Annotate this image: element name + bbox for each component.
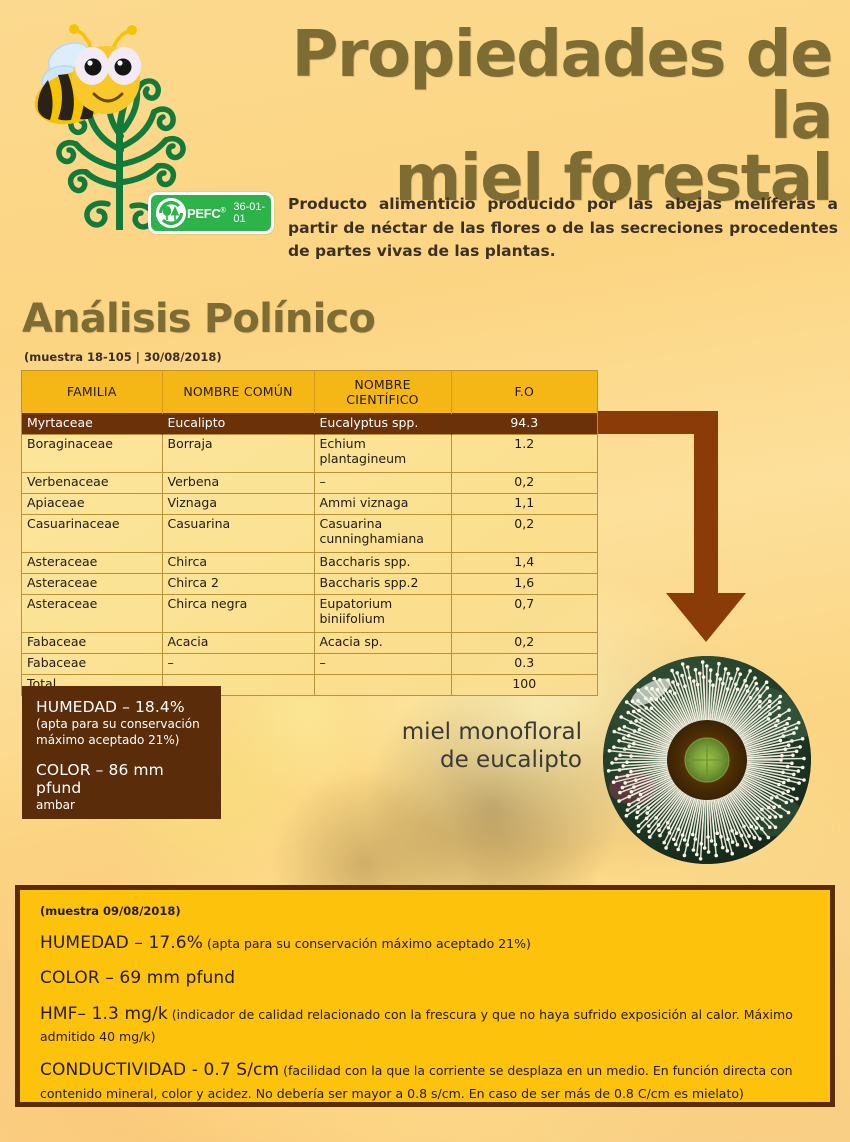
table-cell-nombre-cientifico: – [314,653,451,674]
table-cell-nombre-comun: Viznaga [162,493,314,514]
humedad-note-line2: máximo aceptado 21%) [36,733,207,748]
table-row: BoraginaceaeBorrajaEchium plantagineum1.… [22,434,597,472]
table-cell-nombre-comun: Eucalipto [162,413,314,434]
table-cell-familia: Myrtaceae [22,413,162,434]
caption-line-1: miel monofloral [402,719,582,745]
column-header-familia: FAMILIA [22,371,162,413]
property-note: (apta para su conservación máximo acepta… [203,936,531,951]
column-header-fo: F.O [451,371,597,413]
table-row: AsteraceaeChirca 2Baccharis spp.21,6 [22,573,597,594]
pefc-logo-icon [156,198,186,228]
table-cell-familia: Asteraceae [22,573,162,594]
column-header-line1: NOMBRE [354,377,410,392]
humidity-color-box: HUMEDAD – 18.4% (apta para su conservaci… [22,686,221,819]
table-cell-nombre-cientifico: Acacia sp. [314,632,451,653]
table-cell-nombre-cientifico [314,674,451,695]
table-cell-nombre-cientifico: Eucalyptus spp. [314,413,451,434]
eucalyptus-flower-photo [603,656,811,864]
property-key: HUMEDAD – 17.6% [40,933,203,953]
infographic-poster: PEFC® 36-01-01 Propiedades de la miel fo… [0,0,850,1142]
property-item: COLOR – 69 mm pfund [40,967,810,989]
table-row: ApiaceaeViznagaAmmi viznaga1,1 [22,493,597,514]
table-row: MyrtaceaeEucaliptoEucalyptus spp.94.3 [22,413,597,434]
property-item: CONDUCTIVIDAD - 0.7 S/cm (facilidad con … [40,1059,810,1103]
table-cell-familia: Asteraceae [22,552,162,573]
table-cell-fo: 1,6 [451,573,597,594]
table-cell-nombre-cientifico: – [314,472,451,493]
humedad-note-line1: (apta para su conservación [36,717,207,732]
table-cell-fo: 0.3 [451,653,597,674]
pollen-analysis-table: FAMILIA NOMBRE COMÚN NOMBRE CIENTÍFICO F… [22,371,597,695]
table-cell-nombre-comun: Borraja [162,434,314,472]
table-cell-nombre-comun: Verbena [162,472,314,493]
table-cell-familia: Apiaceae [22,493,162,514]
property-key: COLOR – 69 mm pfund [40,968,235,988]
table-cell-familia: Asteraceae [22,594,162,632]
humedad-label: HUMEDAD – 18.4% [36,698,207,716]
table-cell-familia: Casuarinaceae [22,514,162,552]
table-cell-fo: 94.3 [451,413,597,434]
table-cell-nombre-cientifico: Ammi viznaga [314,493,451,514]
table-cell-fo: 100 [451,674,597,695]
poster-title-block: Propiedades de la miel forestal [286,24,832,210]
table-cell-fo: 0,2 [451,632,597,653]
table-row: VerbenaceaeVerbena–0,2 [22,472,597,493]
table-cell-nombre-cientifico: Eupatorium biniifolium [314,594,451,632]
table-row: Fabaceae––0.3 [22,653,597,674]
table-cell-nombre-cientifico: Baccharis spp. [314,552,451,573]
table-cell-nombre-comun: Casuarina [162,514,314,552]
pefc-label: PEFC® [187,206,225,221]
table-cell-familia: Fabaceae [22,653,162,674]
column-header-nombre-comun: NOMBRE COMÚN [162,371,314,413]
table-row: AsteraceaeChirca negraEupatorium biniifo… [22,594,597,632]
table-cell-fo: 1.2 [451,434,597,472]
table-cell-nombre-comun: Chirca [162,552,314,573]
photo-caption: miel monofloral de eucalipto [330,718,582,774]
color-note: ambar [36,798,207,813]
honey-properties-box: (muestra 09/08/2018) HUMEDAD – 17.6% (ap… [15,885,835,1107]
table-body: MyrtaceaeEucaliptoEucalyptus spp.94.3Bor… [22,413,597,695]
caption-line-2: de eucalipto [440,747,582,773]
bottom-sample-note: (muestra 09/08/2018) [40,904,810,918]
table-cell-fo: 0,2 [451,472,597,493]
table-cell-nombre-cientifico: Casuarina cunninghamiana [314,514,451,552]
table-cell-fo: 0,2 [451,514,597,552]
color-label: COLOR – 86 mm pfund [36,761,207,797]
table-cell-fo: 0,7 [451,594,597,632]
section-title-analisis-polinico: Análisis Polínico [22,296,375,342]
column-header-nombre-cientifico: NOMBRE CIENTÍFICO [314,371,451,413]
properties-list: HUMEDAD – 17.6% (apta para su conservaci… [40,932,810,1103]
table-cell-nombre-comun: Chirca negra [162,594,314,632]
table-row: CasuarinaceaeCasuarinaCasuarina cunningh… [22,514,597,552]
table-cell-familia: Verbenaceae [22,472,162,493]
table-cell-fo: 1,1 [451,493,597,514]
property-item: HUMEDAD – 17.6% (apta para su conservaci… [40,932,810,954]
table-cell-familia: Fabaceae [22,632,162,653]
table-cell-nombre-cientifico: Baccharis spp.2 [314,573,451,594]
column-header-line2: CIENTÍFICO [346,392,418,407]
table-head: FAMILIA NOMBRE COMÚN NOMBRE CIENTÍFICO F… [22,371,597,413]
table-row: FabaceaeAcaciaAcacia sp.0,2 [22,632,597,653]
table-cell-fo: 1,4 [451,552,597,573]
table-cell-nombre-comun: – [162,653,314,674]
analysis-sample-note: (muestra 18-105 | 30/08/2018) [24,350,222,364]
page-title: Propiedades de la miel forestal [286,24,832,210]
property-key: CONDUCTIVIDAD - 0.7 S/cm [40,1060,279,1080]
table-cell-nombre-comun: Chirca 2 [162,573,314,594]
title-line-1: Propiedades de la [292,18,832,154]
table-cell-nombre-comun: Acacia [162,632,314,653]
table-cell-nombre-cientifico: Echium plantagineum [314,434,451,472]
property-item: HMF– 1.3 mg/k (indicador de calidad rela… [40,1003,810,1047]
spacer [36,748,207,761]
pefc-code: 36-01-01 [233,201,271,225]
table-header-row: FAMILIA NOMBRE COMÚN NOMBRE CIENTÍFICO F… [22,371,597,413]
page-subtitle: Producto alimenticio producido por las a… [288,193,838,264]
pefc-certification-badge: PEFC® 36-01-01 [148,192,274,234]
table-row: AsteraceaeChircaBaccharis spp.1,4 [22,552,597,573]
table-cell-familia: Boraginaceae [22,434,162,472]
property-key: HMF– 1.3 mg/k [40,1004,168,1024]
